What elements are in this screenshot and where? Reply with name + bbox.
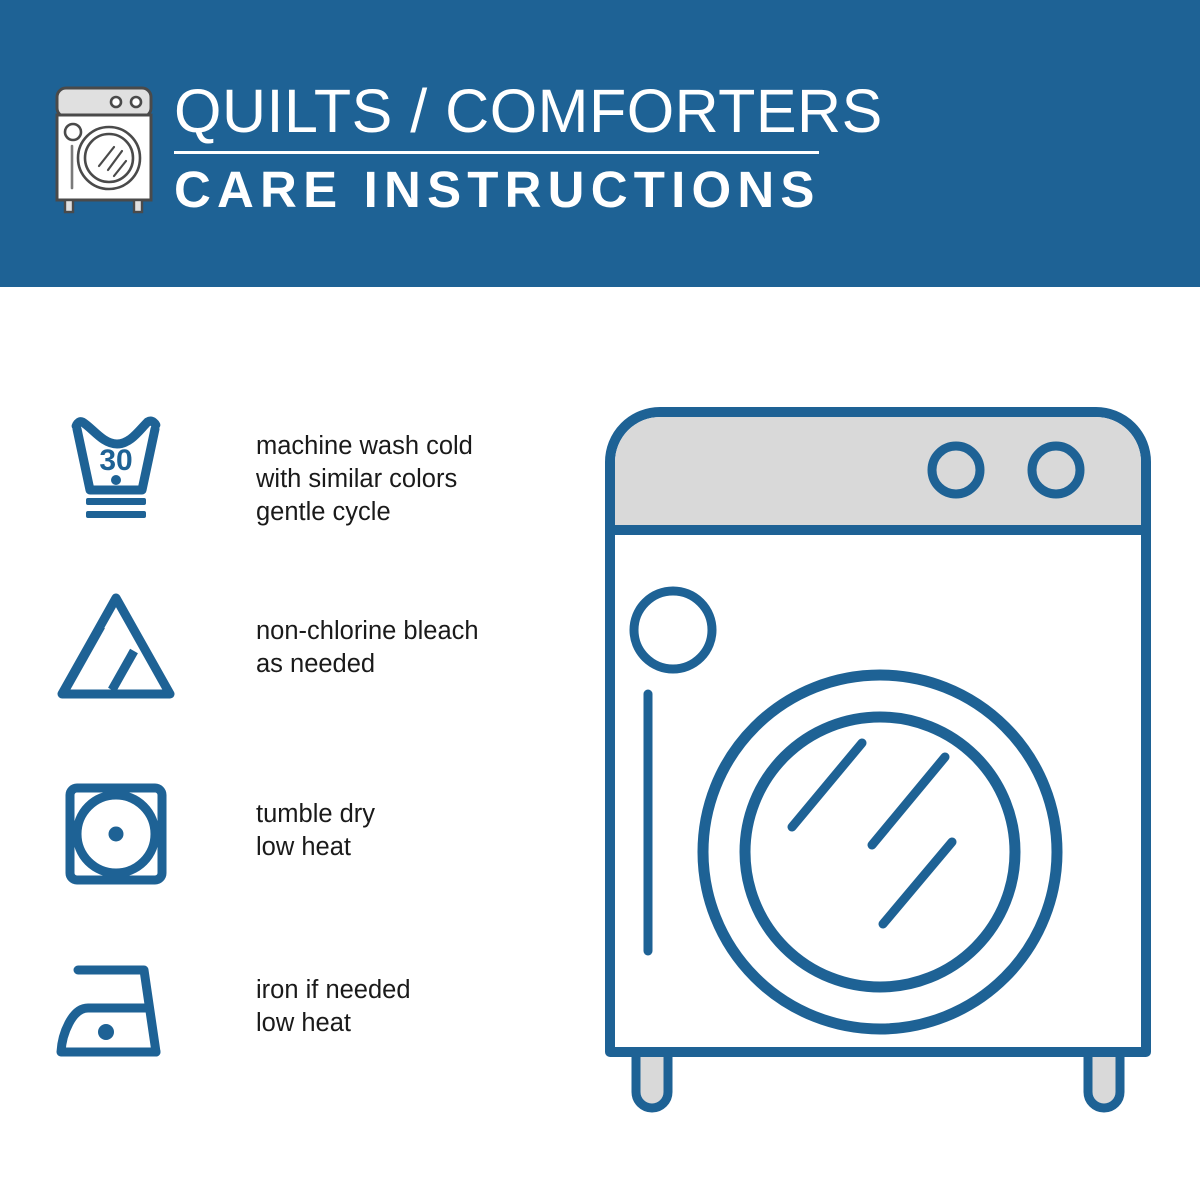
care-item-label: machine wash cold with similar colors ge… (256, 430, 473, 529)
care-item-iron: iron if needed low heat (52, 952, 411, 1070)
care-item-bleach: non-chlorine bleach as needed (52, 590, 479, 708)
page-header: QUILTS / COMFORTERS CARE INSTRUCTIONS (0, 0, 1200, 287)
care-item-tumble-dry: tumble dry low heat (52, 777, 375, 895)
care-instructions-list: 30 machine wash cold with similar colors… (0, 287, 560, 1200)
door-inner-ring (745, 717, 1015, 987)
care-item-label: tumble dry low heat (256, 798, 375, 864)
care-item-label: non-chlorine bleach as needed (256, 615, 479, 681)
page-subtitle: CARE INSTRUCTIONS (174, 162, 883, 218)
washing-machine-icon (52, 82, 156, 214)
wash-tub-30-gentle-icon: 30 (52, 412, 180, 530)
control-knob-left (932, 446, 980, 494)
non-chlorine-bleach-triangle-icon (52, 590, 180, 708)
page-title: QUILTS / COMFORTERS (174, 78, 883, 144)
washing-machine-illustration (600, 402, 1160, 1117)
wash-temp-label: 30 (99, 444, 132, 477)
care-item-machine-wash: 30 machine wash cold with similar colors… (52, 412, 473, 530)
tumble-dry-low-heat-icon (52, 777, 180, 895)
control-knob-right (1032, 446, 1080, 494)
iron-low-heat-icon (52, 952, 180, 1070)
header-content: QUILTS / COMFORTERS CARE INSTRUCTIONS (52, 78, 883, 218)
washing-machine-graphic (600, 402, 1160, 1117)
care-item-label: iron if needed low heat (256, 974, 411, 1040)
header-title-block: QUILTS / COMFORTERS CARE INSTRUCTIONS (174, 78, 883, 218)
indicator-circle (634, 591, 712, 669)
title-divider (174, 151, 819, 154)
